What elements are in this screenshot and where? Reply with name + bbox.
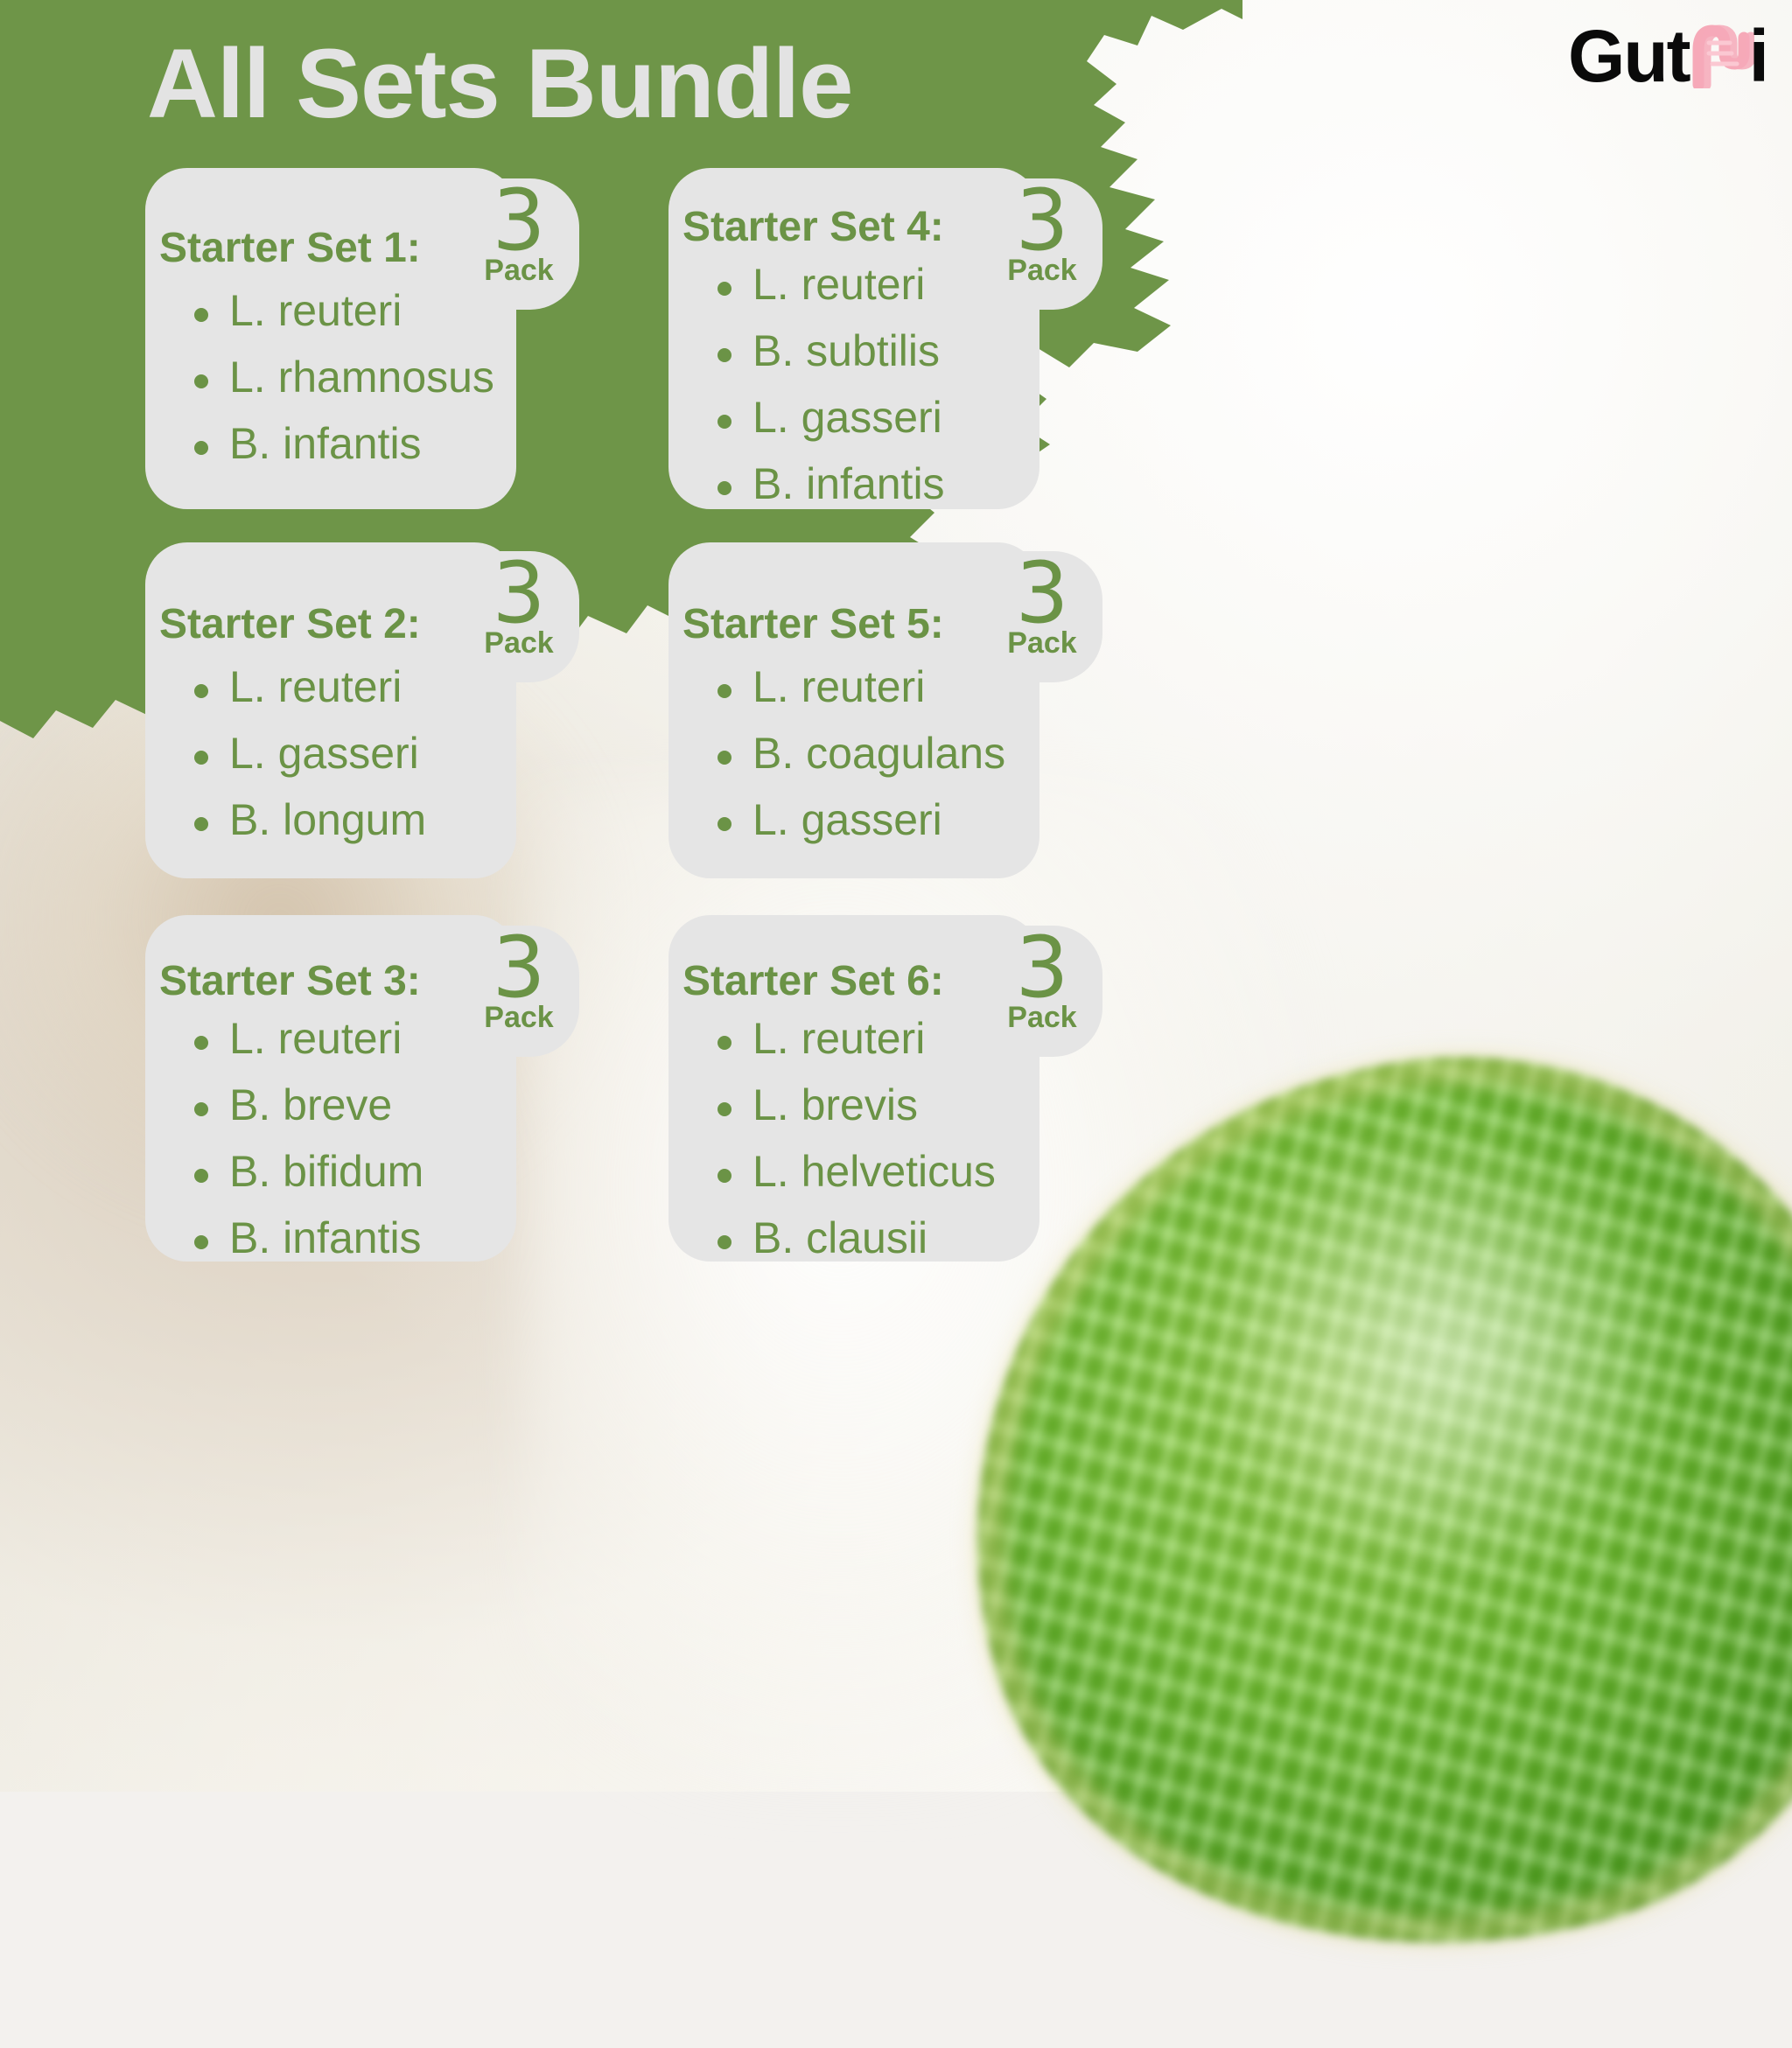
list-item: L. helveticus (710, 1146, 996, 1197)
list-item: B. bifidum (187, 1146, 423, 1197)
pack-badge-2: 3 Pack (458, 551, 579, 682)
card-title: Starter Set 3: (159, 957, 421, 1005)
pack-label: Pack (1007, 628, 1076, 658)
list-item: B. subtilis (710, 325, 945, 376)
card-strain-list: L. reuteri L. rhamnosus B. infantis (187, 285, 494, 485)
list-item: L. gasseri (187, 728, 426, 779)
pack-badge-4: 3 Pack (982, 178, 1102, 310)
pack-label: Pack (484, 628, 553, 658)
list-item: L. reuteri (710, 259, 945, 310)
card-title: Starter Set 5: (682, 600, 944, 648)
pack-count: 3 (1015, 555, 1068, 632)
brand-logo-text-i: i (1749, 19, 1767, 93)
pack-count: 3 (492, 182, 545, 259)
list-item: B. infantis (187, 1213, 423, 1263)
card-strain-list: L. reuteri L. brevis L. helveticus B. cl… (710, 1013, 996, 1279)
card-strain-list: L. reuteri B. subtilis L. gasseri B. inf… (710, 259, 945, 525)
pack-count: 3 (492, 555, 545, 632)
list-item: L. reuteri (187, 1013, 423, 1064)
pack-badge-6: 3 Pack (982, 926, 1102, 1057)
list-item: B. infantis (710, 458, 945, 509)
intestine-icon (1686, 24, 1754, 88)
list-item: B. coagulans (710, 728, 1005, 779)
list-item: B. clausii (710, 1213, 996, 1263)
pack-label: Pack (1007, 1003, 1076, 1032)
brand-logo: Gut i (1568, 16, 1767, 96)
list-item: B. infantis (187, 418, 494, 469)
list-item: L. brevis (710, 1080, 996, 1130)
card-strain-list: L. reuteri L. gasseri B. longum (187, 661, 426, 861)
list-item: L. reuteri (710, 661, 1005, 712)
pack-label: Pack (484, 1003, 553, 1032)
list-item: B. breve (187, 1080, 423, 1130)
page-title: All Sets Bundle (147, 30, 852, 137)
card-title: Starter Set 4: (682, 203, 944, 251)
card-title: Starter Set 1: (159, 224, 421, 272)
list-item: L. rhamnosus (187, 352, 494, 402)
card-title: Starter Set 6: (682, 957, 944, 1005)
pack-count: 3 (1015, 182, 1068, 259)
mint-leaf-glow (1197, 1127, 1687, 1582)
pack-badge-1: 3 Pack (458, 178, 579, 310)
list-item: L. reuteri (710, 1013, 996, 1064)
list-item: L. gasseri (710, 794, 1005, 845)
brand-logo-text-gut: Gut (1568, 19, 1690, 93)
pack-count: 3 (1015, 929, 1068, 1006)
card-strain-list: L. reuteri B. breve B. bifidum B. infant… (187, 1013, 423, 1279)
pack-badge-5: 3 Pack (982, 551, 1102, 682)
list-item: L. gasseri (710, 392, 945, 443)
list-item: L. reuteri (187, 285, 494, 336)
card-title: Starter Set 2: (159, 600, 421, 648)
list-item: L. reuteri (187, 661, 426, 712)
pack-count: 3 (492, 929, 545, 1006)
pack-label: Pack (484, 255, 553, 285)
pack-badge-3: 3 Pack (458, 926, 579, 1057)
list-item: B. longum (187, 794, 426, 845)
card-strain-list: L. reuteri B. coagulans L. gasseri (710, 661, 1005, 861)
pack-label: Pack (1007, 255, 1076, 285)
